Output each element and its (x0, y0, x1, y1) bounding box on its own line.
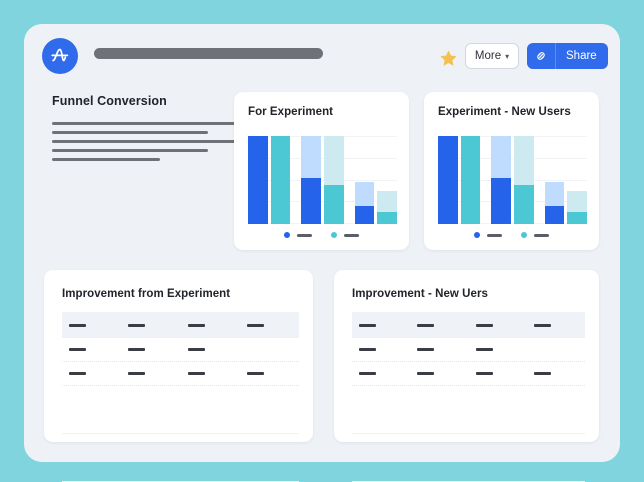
cell-value-placeholder (188, 372, 205, 375)
legend-dot[interactable] (331, 232, 337, 238)
cell-value-placeholder (476, 348, 493, 351)
funnel-conversion-title: Funnel Conversion (52, 94, 238, 108)
legend-dot[interactable] (474, 232, 480, 238)
chart-card-for-experiment[interactable]: For Experiment (234, 92, 409, 250)
legend-dash (534, 234, 549, 237)
table-row (62, 386, 299, 410)
chart-legend (234, 232, 409, 238)
bar[interactable] (248, 136, 268, 224)
legend-dash (297, 234, 312, 237)
table-row[interactable] (62, 338, 299, 362)
bar[interactable] (355, 182, 375, 224)
bar-segment-value (514, 185, 534, 224)
bar-segment-value (567, 212, 587, 224)
bar[interactable] (324, 136, 344, 224)
table-cell (181, 348, 240, 351)
table-row[interactable] (352, 362, 585, 386)
table-cell (181, 324, 240, 327)
table-cell (181, 372, 240, 375)
table-cell (410, 324, 468, 327)
bar-group[interactable] (438, 136, 480, 224)
bar-segment-value (355, 206, 375, 224)
bar[interactable] (545, 182, 565, 224)
link-icon[interactable] (527, 43, 556, 69)
chart-card-title: Experiment - New Users (438, 106, 571, 118)
table-cell (240, 372, 299, 375)
chart-bars (438, 136, 587, 224)
table-cell (469, 348, 527, 351)
more-button-label: More (475, 50, 501, 62)
legend-dot[interactable] (284, 232, 290, 238)
table-cell (527, 372, 585, 375)
bar[interactable] (567, 191, 587, 224)
share-button[interactable]: Share (556, 43, 608, 69)
table-row (352, 434, 585, 458)
table-cell (410, 372, 468, 375)
cell-value-placeholder (359, 348, 376, 351)
bar-segment-remainder (545, 182, 565, 206)
table-row (352, 410, 585, 434)
skeleton-line (52, 131, 208, 134)
bar[interactable] (514, 136, 534, 224)
bar-chart-plot (248, 136, 397, 224)
bar-segment-value (438, 136, 458, 224)
table-cell (352, 348, 410, 351)
data-table (62, 312, 299, 482)
bar-segment-remainder (377, 191, 397, 212)
table-cell (62, 372, 121, 375)
bar-segment-remainder (514, 136, 534, 185)
bar-chart-plot (438, 136, 587, 224)
bar-segment-remainder (324, 136, 344, 185)
bar-segment-value (248, 136, 268, 224)
cell-value-placeholder (188, 348, 205, 351)
table-cell (62, 348, 121, 351)
bar-segment-remainder (355, 182, 375, 206)
table-card-improvement-from-experiment[interactable]: Improvement from Experiment (44, 270, 313, 442)
dashboard-title-placeholder (94, 48, 323, 59)
cell-value-placeholder (69, 324, 86, 327)
table-cell (352, 372, 410, 375)
cell-value-placeholder (128, 372, 145, 375)
table-row[interactable] (62, 362, 299, 386)
cell-value-placeholder (417, 372, 434, 375)
cell-value-placeholder (247, 372, 264, 375)
bar-group[interactable] (248, 136, 290, 224)
share-button-group: Share (527, 43, 608, 69)
skeleton-line (52, 140, 238, 143)
bar-segment-remainder (301, 136, 321, 178)
table-cell (527, 324, 585, 327)
bar-segment-value (301, 178, 321, 224)
table-row (352, 386, 585, 410)
amplitude-logo-icon[interactable] (42, 38, 78, 74)
funnel-skeleton-lines (52, 122, 238, 161)
cell-value-placeholder (69, 372, 86, 375)
data-table (352, 312, 585, 482)
chart-card-experiment-new-users[interactable]: Experiment - New Users (424, 92, 599, 250)
cell-value-placeholder (417, 348, 434, 351)
bar-group[interactable] (491, 136, 533, 224)
cell-value-placeholder (359, 324, 376, 327)
bar[interactable] (377, 191, 397, 224)
table-card-title: Improvement from Experiment (62, 288, 230, 300)
bar-segment-value (377, 212, 397, 224)
table-row (62, 410, 299, 434)
cell-value-placeholder (188, 324, 205, 327)
bar-group[interactable] (301, 136, 343, 224)
chart-card-title: For Experiment (248, 106, 333, 118)
app-header: More ▾ Share (24, 24, 620, 86)
cell-value-placeholder (359, 372, 376, 375)
cell-value-placeholder (476, 372, 493, 375)
table-row (62, 434, 299, 458)
table-cell (469, 372, 527, 375)
chart-bars (248, 136, 397, 224)
cell-value-placeholder (128, 324, 145, 327)
table-cell (352, 324, 410, 327)
bar-group[interactable] (545, 136, 587, 224)
table-row[interactable] (352, 338, 585, 362)
share-button-label: Share (566, 50, 597, 62)
bar[interactable] (491, 136, 511, 224)
table-header-row[interactable] (62, 312, 299, 338)
bar[interactable] (301, 136, 321, 224)
bar-group[interactable] (355, 136, 397, 224)
cell-value-placeholder (534, 324, 551, 327)
legend-dash (344, 234, 359, 237)
bar-segment-remainder (491, 136, 511, 178)
table-cell (410, 348, 468, 351)
skeleton-line (52, 158, 160, 161)
cell-value-placeholder (417, 324, 434, 327)
cell-value-placeholder (534, 372, 551, 375)
table-cell (469, 324, 527, 327)
bar[interactable] (271, 136, 291, 224)
bar-segment-value (461, 136, 481, 224)
table-cell (121, 348, 180, 351)
table-row (352, 458, 585, 482)
legend-dash (487, 234, 502, 237)
bar-segment-value (491, 178, 511, 224)
app-panel: More ▾ Share Funnel Conversion For Exper… (24, 24, 620, 462)
table-cell (240, 324, 299, 327)
table-card-improvement-new-uers[interactable]: Improvement - New Uers (334, 270, 599, 442)
chevron-down-icon: ▾ (505, 53, 509, 61)
table-header-row[interactable] (352, 312, 585, 338)
cell-value-placeholder (128, 348, 145, 351)
table-cell (121, 324, 180, 327)
bar-segment-value (324, 185, 344, 224)
legend-dot[interactable] (521, 232, 527, 238)
cell-value-placeholder (69, 348, 86, 351)
table-cell (121, 372, 180, 375)
skeleton-line (52, 149, 208, 152)
funnel-conversion-block: Funnel Conversion (52, 94, 238, 161)
chart-legend (424, 232, 599, 238)
bar-segment-value (271, 136, 291, 224)
cell-value-placeholder (476, 324, 493, 327)
bar[interactable] (461, 136, 481, 224)
table-row (62, 458, 299, 482)
table-card-title: Improvement - New Uers (352, 288, 488, 300)
bar[interactable] (438, 136, 458, 224)
cell-value-placeholder (247, 324, 264, 327)
star-icon[interactable] (436, 46, 460, 70)
table-cell (62, 324, 121, 327)
skeleton-line (52, 122, 238, 125)
more-button[interactable]: More ▾ (465, 43, 519, 69)
bar-segment-value (545, 206, 565, 224)
bar-segment-remainder (567, 191, 587, 212)
